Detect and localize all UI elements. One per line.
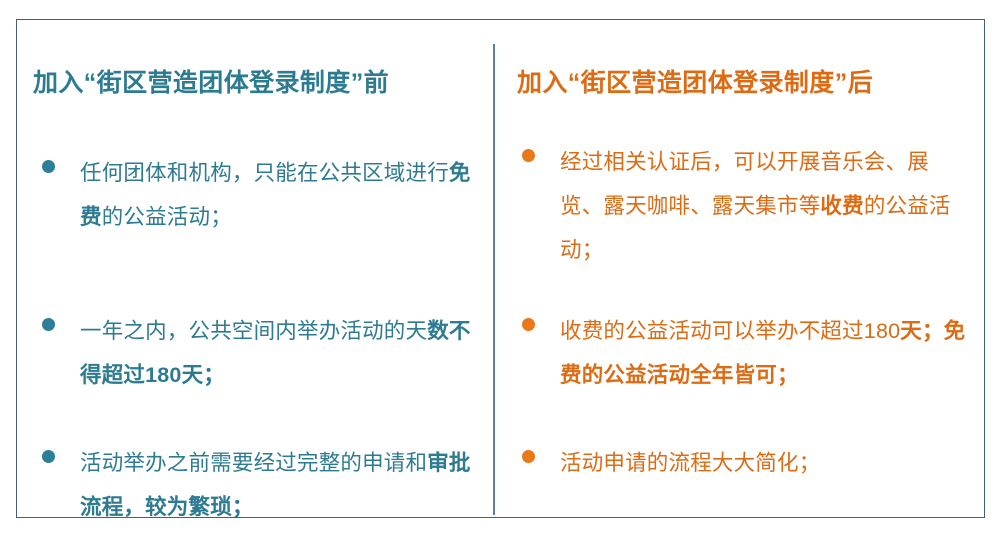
bullet-item: 一年之内，公共空间内举办活动的天数不得超过180天；	[42, 309, 482, 397]
bullet-item: 收费的公益活动可以举办不超过180天；免费的公益活动全年皆可；	[522, 309, 972, 397]
bullet-item: 活动申请的流程大大简化；	[522, 441, 972, 485]
bullet-text: 活动申请的流程大大简化；	[560, 441, 972, 485]
bullet-dot-icon	[522, 149, 535, 162]
bullet-item: 活动举办之前需要经过完整的申请和审批流程，较为繁琐；	[42, 441, 482, 529]
bullet-dot-icon	[522, 318, 535, 331]
column-before-heading: 加入“街区营造团体登录制度”前	[33, 71, 389, 96]
bullet-dot-icon	[42, 318, 55, 331]
bullet-item: 经过相关认证后，可以开展音乐会、展览、露天咖啡、露天集市等收费的公益活动；	[522, 140, 972, 272]
bullet-text: 任何团体和机构，只能在公共区域进行免费的公益活动；	[80, 151, 482, 239]
column-after: 加入“街区营造团体登录制度”后 经过相关认证后，可以开展音乐会、展览、露天咖啡、…	[494, 19, 986, 518]
bullet-item: 任何团体和机构，只能在公共区域进行免费的公益活动；	[42, 151, 482, 239]
bullet-dot-icon	[42, 450, 55, 463]
column-after-heading: 加入“街区营造团体登录制度”后	[517, 71, 873, 96]
bullet-text: 一年之内，公共空间内举办活动的天数不得超过180天；	[80, 309, 482, 397]
bullet-text: 活动举办之前需要经过完整的申请和审批流程，较为繁琐；	[80, 441, 482, 529]
bullet-text: 收费的公益活动可以举办不超过180天；免费的公益活动全年皆可；	[560, 309, 972, 397]
bullet-dot-icon	[42, 160, 55, 173]
bullet-dot-icon	[522, 450, 535, 463]
column-before: 加入“街区营造团体登录制度”前 任何团体和机构，只能在公共区域进行免费的公益活动…	[16, 19, 494, 518]
bullet-text: 经过相关认证后，可以开展音乐会、展览、露天咖啡、露天集市等收费的公益活动；	[560, 140, 972, 272]
comparison-panel: 加入“街区营造团体登录制度”前 任何团体和机构，只能在公共区域进行免费的公益活动…	[0, 0, 1000, 538]
